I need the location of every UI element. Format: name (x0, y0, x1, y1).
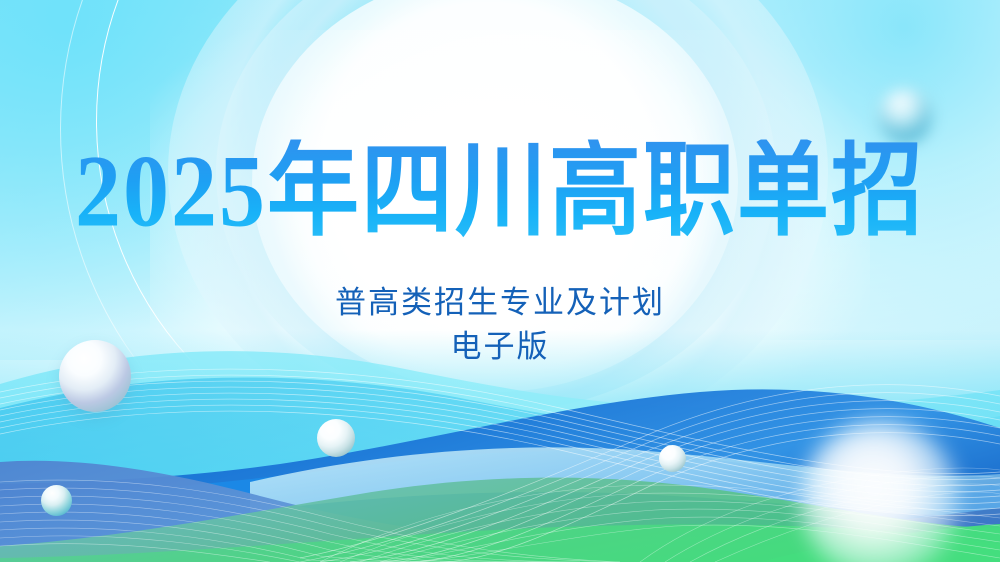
bubble-mid-left-icon (317, 419, 355, 457)
bubble-top-right-icon (878, 89, 932, 143)
bubble-left-large-icon (59, 340, 131, 412)
bubble-bottom-left-icon (41, 485, 72, 516)
poster-canvas: 2025年四川高职单招 普高类招生专业及计划 电子版 (0, 0, 1000, 562)
bubble-mid-right-icon (659, 445, 686, 472)
